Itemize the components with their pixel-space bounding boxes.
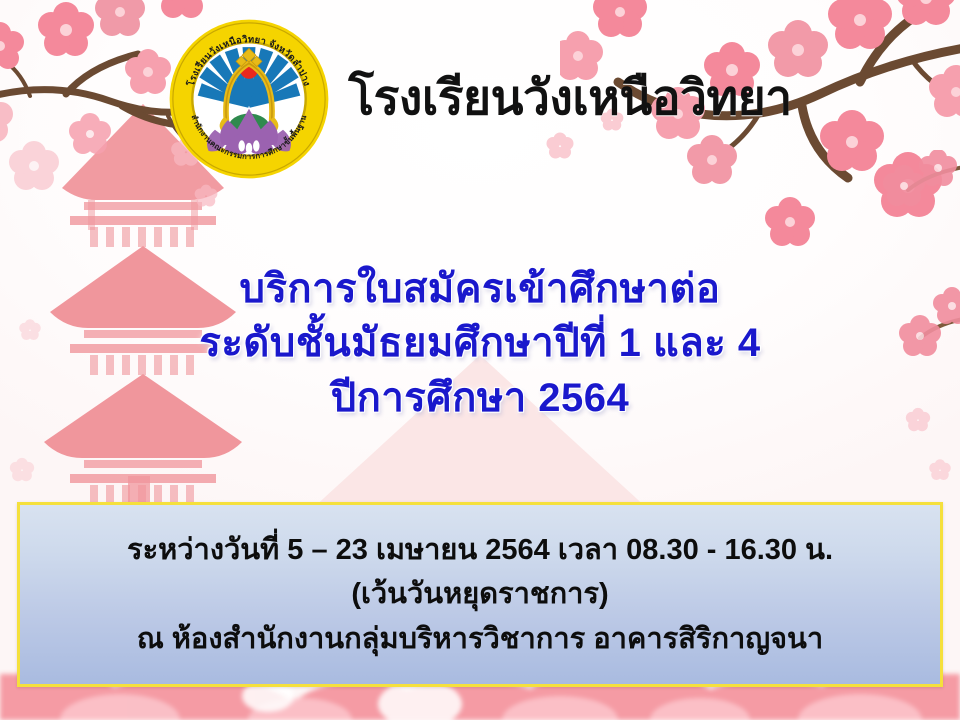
details-location-line: ณ ห้องสำนักงานกลุ่มบริหารวิชาการ อาคารสิ… xyxy=(137,618,823,660)
school-emblem-logo: โรงเรียนวังเหนือวิทยา จังหวัดลำปาง สำนัก… xyxy=(168,18,330,180)
poster-canvas: โรงเรียนวังเหนือวิทยา จังหวัดลำปาง สำนัก… xyxy=(0,0,960,720)
details-holiday-note-line: (เว้นวันหยุดราชการ) xyxy=(351,573,608,615)
title-line-2: ระดับชั้นมัธยมศึกษาปีที่ 1 และ 4 xyxy=(0,316,960,370)
details-date-time-line: ระหว่างวันที่ 5 – 23 เมษายน 2564 เวลา 08… xyxy=(127,529,833,571)
school-name-heading: โรงเรียนวังเหนือวิทยา xyxy=(348,75,791,123)
announcement-title-block: บริการใบสมัครเข้าศึกษาต่อ ระดับชั้นมัธยม… xyxy=(0,262,960,425)
announcement-details-box: ระหว่างวันที่ 5 – 23 เมษายน 2564 เวลา 08… xyxy=(17,502,943,687)
title-line-1: บริการใบสมัครเข้าศึกษาต่อ xyxy=(0,262,960,316)
poster-header: โรงเรียนวังเหนือวิทยา จังหวัดลำปาง สำนัก… xyxy=(0,18,960,180)
title-line-3: ปีการศึกษา 2564 xyxy=(0,371,960,425)
